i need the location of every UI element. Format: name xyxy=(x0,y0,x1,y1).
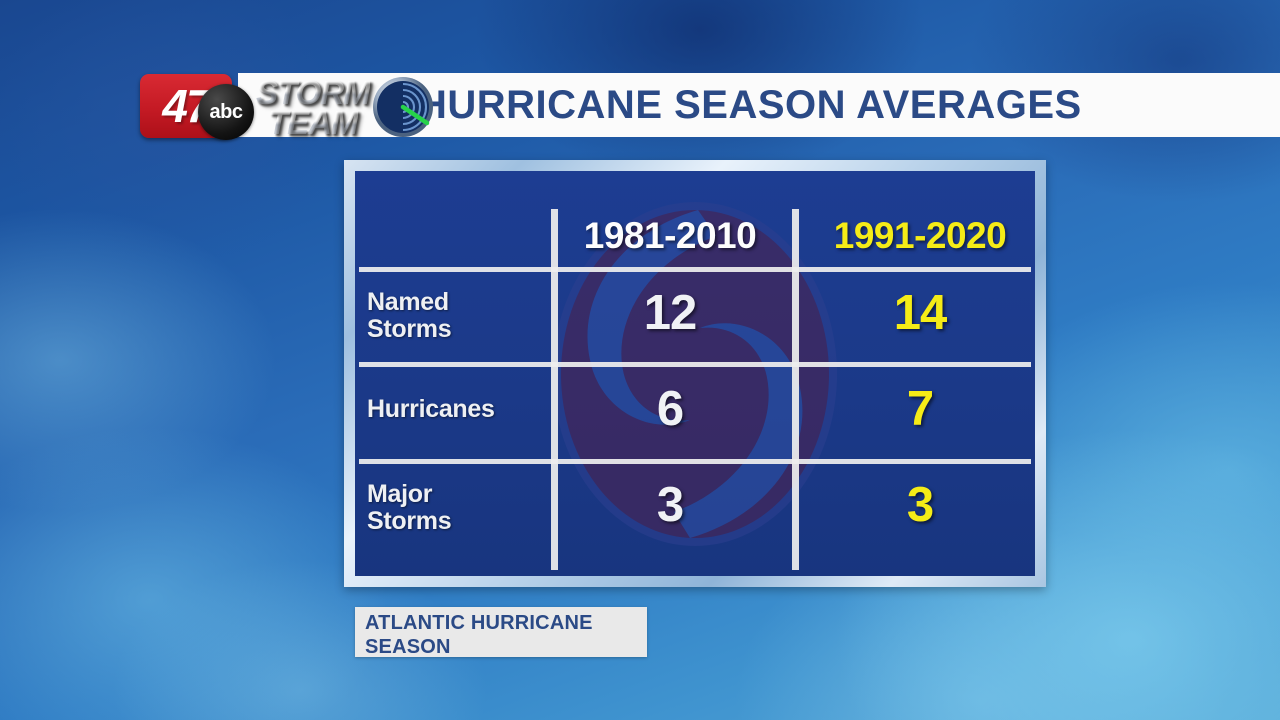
cell-major-storms-1981-2010: 3 xyxy=(555,477,785,533)
table-row: Hurricanes 6 7 xyxy=(355,374,1035,459)
cell-named-storms-1991-2020: 14 xyxy=(800,285,1035,341)
cell-major-storms-1991-2020: 3 xyxy=(800,477,1035,533)
abc-network-label: abc xyxy=(210,101,243,124)
column-header-1991-2020: 1991-2020 xyxy=(800,215,1035,257)
abc-network-icon: abc xyxy=(198,84,254,140)
brand-team-label: TEAM xyxy=(268,104,358,142)
table-row: Named Storms 12 14 xyxy=(355,279,1035,362)
broadcast-graphic: HURRICANE SEASON AVERAGES 47 abc STORM T… xyxy=(0,0,1280,720)
cell-hurricanes-1991-2020: 7 xyxy=(800,381,1035,437)
station-logo: 47 abc STORM TEAM xyxy=(140,70,420,146)
caption-box: ATLANTIC HURRICANE SEASON xyxy=(355,607,647,657)
row-label-major-storms: Major Storms xyxy=(367,481,547,534)
table-row: Major Storms 3 3 xyxy=(355,471,1035,556)
caption-line-1: ATLANTIC HURRICANE xyxy=(365,612,637,636)
page-title: HURRICANE SEASON AVERAGES xyxy=(418,83,1082,128)
radar-sweep-icon xyxy=(372,76,434,138)
row-label-hurricanes: Hurricanes xyxy=(367,396,547,423)
cell-hurricanes-1981-2010: 6 xyxy=(555,381,785,437)
stats-table-panel: 1981-2010 1991-2020 Named Storms 12 14 H… xyxy=(355,171,1035,576)
stats-table-frame: 1981-2010 1991-2020 Named Storms 12 14 H… xyxy=(344,160,1046,587)
cell-named-storms-1981-2010: 12 xyxy=(555,285,785,341)
caption-line-2: SEASON xyxy=(365,636,637,660)
column-header-1981-2010: 1981-2010 xyxy=(555,215,785,257)
row-label-named-storms: Named Storms xyxy=(367,289,547,342)
